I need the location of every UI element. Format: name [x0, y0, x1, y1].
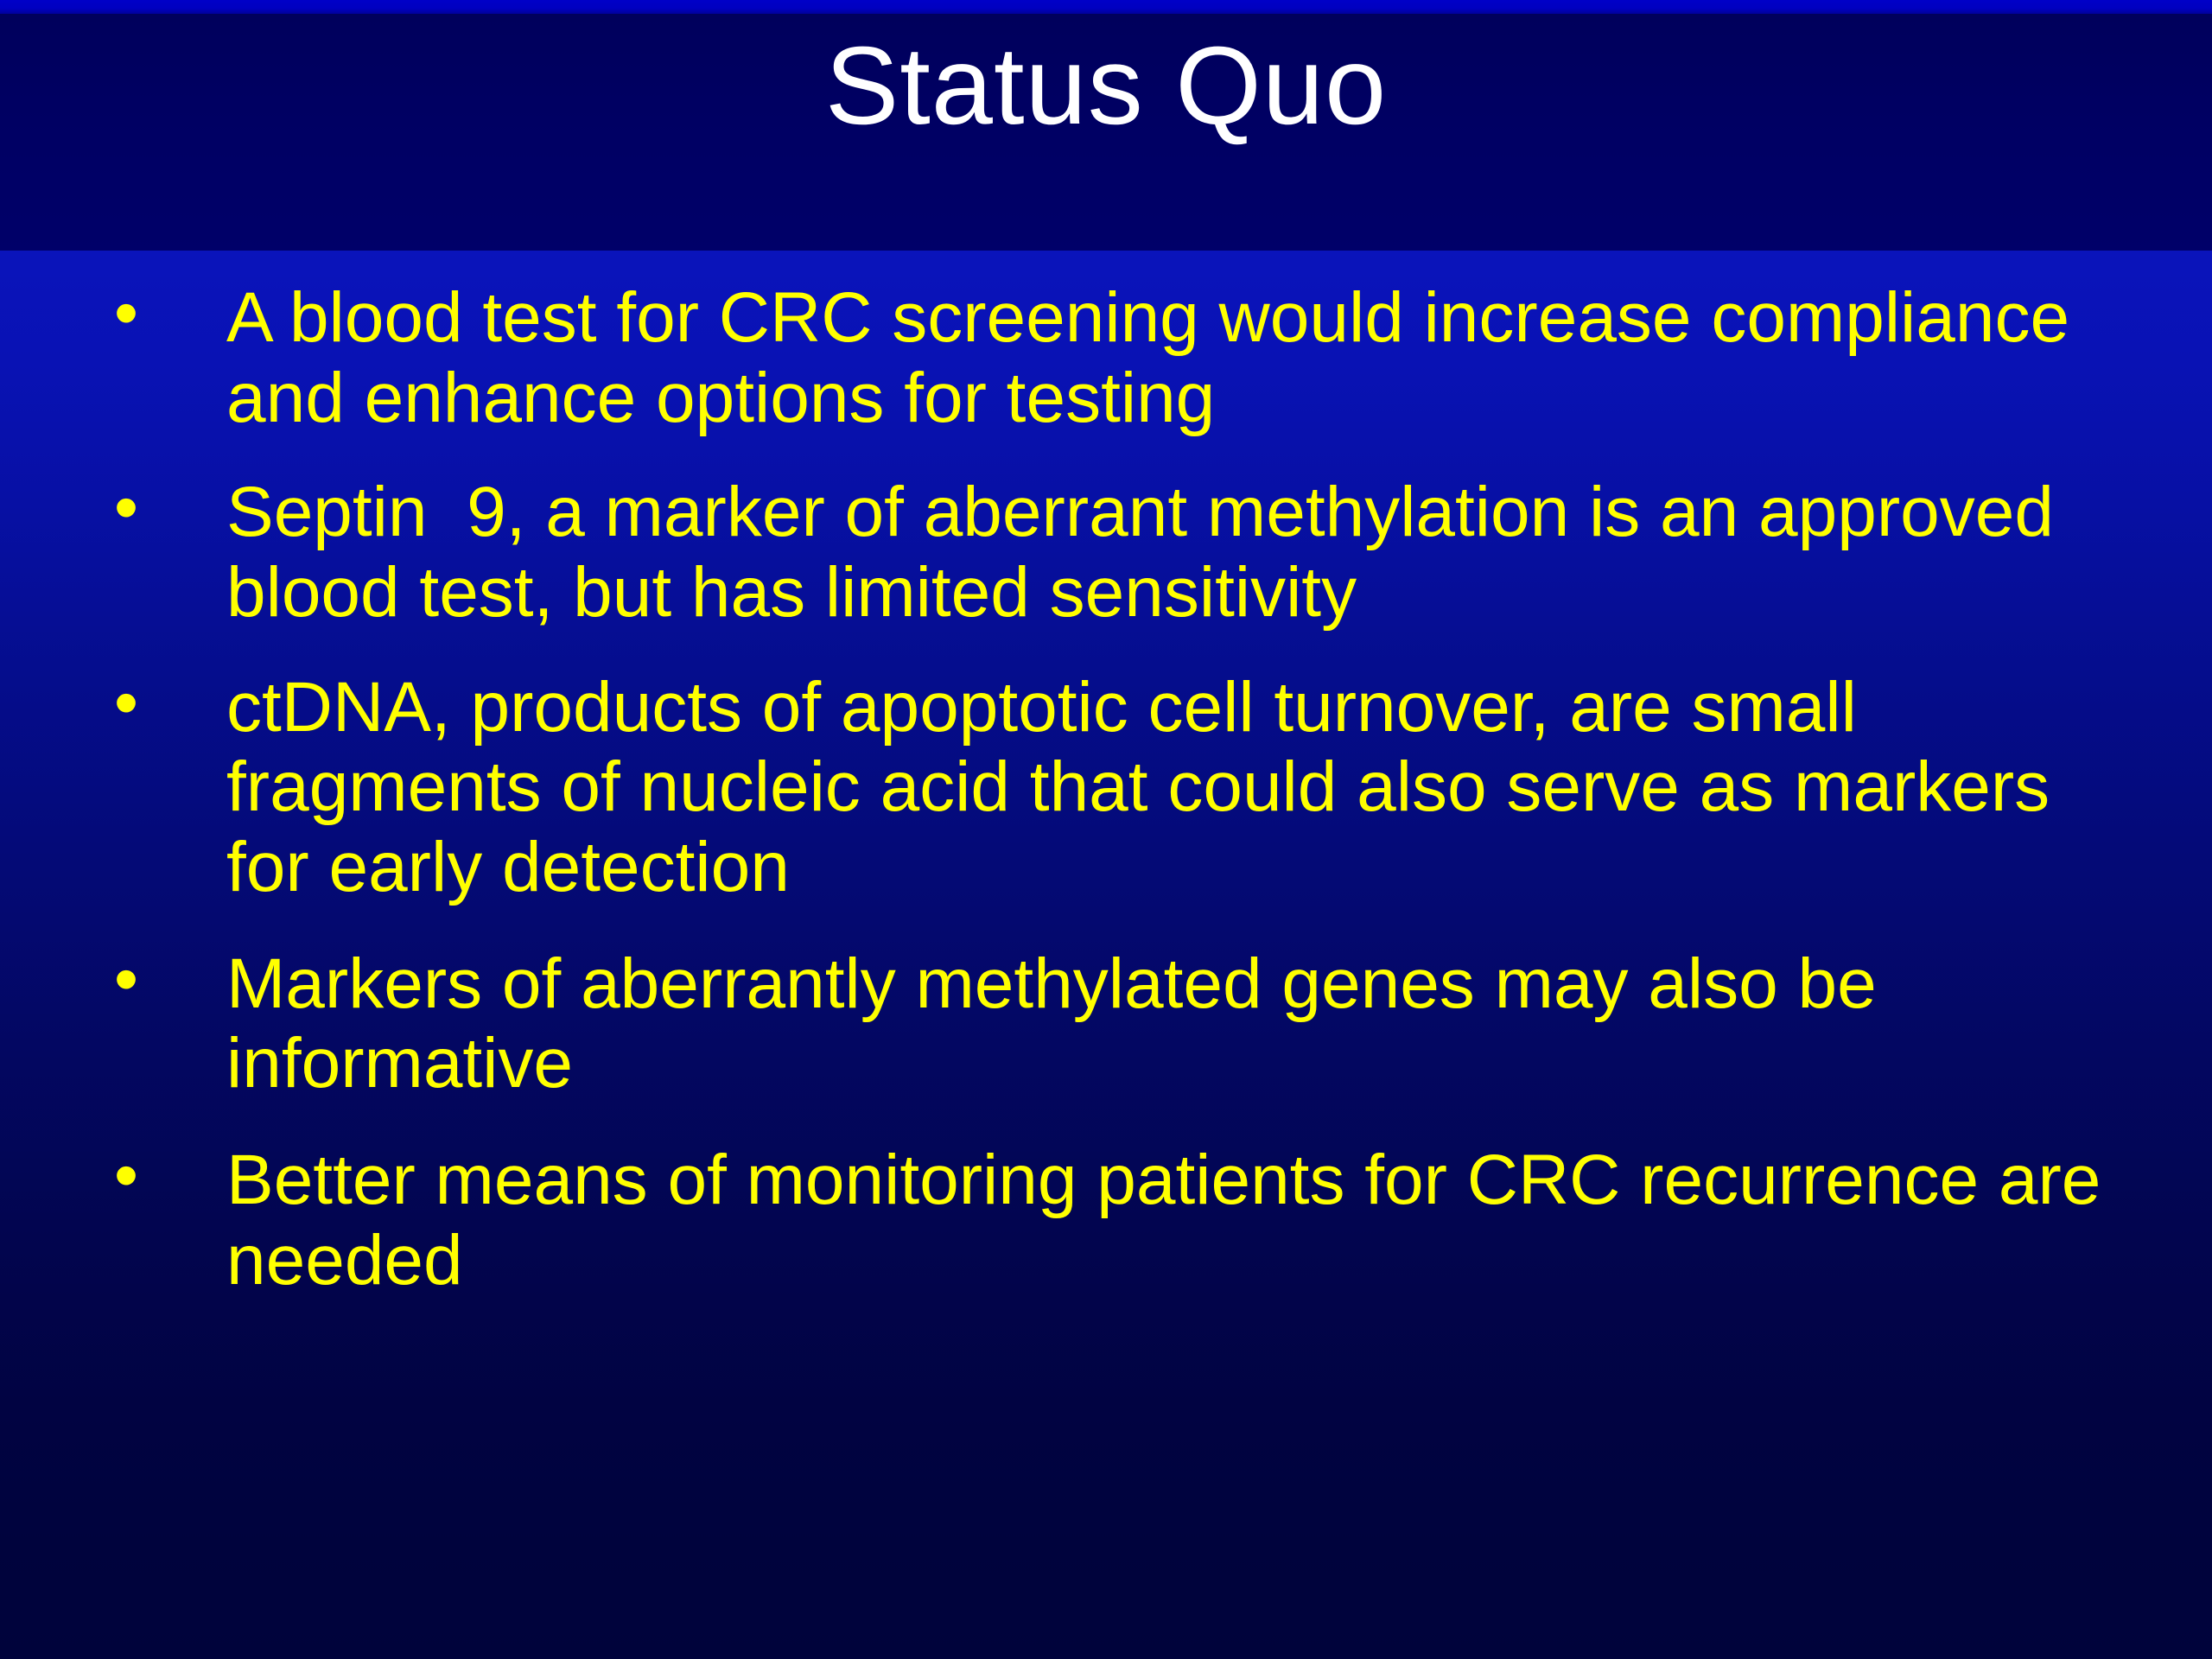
bullet-text: Septin 9, a marker of aberrant methylati… [226, 473, 2126, 632]
list-item: • Markers of aberrantly methylated genes… [0, 944, 2212, 1104]
presentation-slide: Status Quo • A blood test for CRC screen… [0, 0, 2212, 1659]
bullet-text: A blood test for CRC screening would inc… [226, 278, 2126, 438]
bullet-point-icon: • [109, 668, 143, 737]
list-item: • ctDNA, products of apoptotic cell turn… [0, 668, 2212, 908]
page-title: Status Quo [0, 31, 2212, 142]
list-item: • Better means of monitoring patients fo… [0, 1141, 2212, 1300]
bullet-text: ctDNA, products of apoptotic cell turnov… [226, 668, 2126, 908]
bullet-point-icon: • [109, 473, 143, 542]
bullet-text: Markers of aberrantly methylated genes m… [226, 944, 2126, 1104]
bullet-list: • A blood test for CRC screening would i… [0, 251, 2212, 1300]
bullet-text: Better means of monitoring patients for … [226, 1141, 2126, 1300]
list-item: • Septin 9, a marker of aberrant methyla… [0, 473, 2212, 632]
bullet-point-icon: • [109, 278, 143, 347]
list-item: • A blood test for CRC screening would i… [0, 278, 2212, 438]
bullet-point-icon: • [109, 1141, 143, 1210]
slide-top-accent-strip [0, 0, 2212, 14]
bullet-point-icon: • [109, 944, 143, 1014]
